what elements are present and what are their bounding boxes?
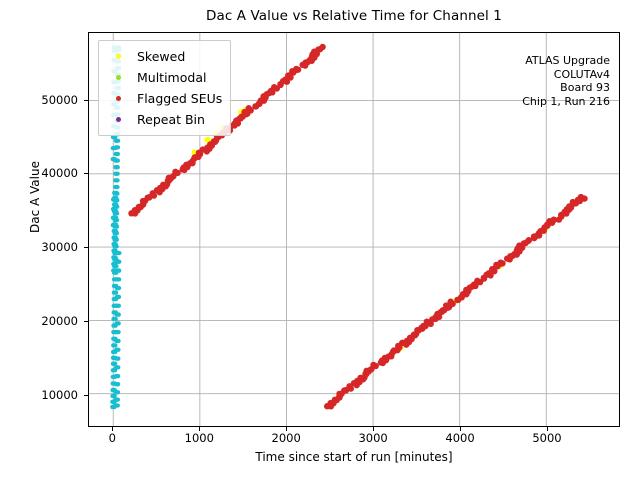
legend-marker-icon (105, 75, 131, 80)
data-point-ramp (116, 382, 120, 386)
data-point-seu (499, 260, 505, 266)
data-point-ramp (114, 242, 118, 246)
data-point-ramp (117, 321, 121, 325)
legend-dot-icon (116, 75, 121, 80)
y-tick-label: 40000 (18, 166, 78, 180)
annotation-line-1: ATLAS Upgrade (522, 54, 610, 68)
data-point-ramp (116, 374, 120, 378)
legend-label: Repeat Bin (131, 112, 205, 127)
data-point-ramp (115, 178, 119, 182)
data-point-ramp (117, 260, 121, 264)
y-tick-mark (84, 247, 88, 248)
legend-dot-icon (116, 54, 121, 59)
legend-label: Skewed (131, 49, 185, 64)
data-point-ramp (116, 330, 120, 334)
data-point-seu (295, 66, 301, 72)
legend-label: Multimodal (131, 70, 206, 85)
x-tick-label: 0 (109, 431, 116, 445)
data-point-ramp (117, 312, 121, 316)
annotation-line-3: Board 93 (522, 81, 610, 95)
y-tick-label: 50000 (18, 93, 78, 107)
data-point-ramp (117, 286, 121, 290)
legend-label: Flagged SEUs (131, 91, 222, 106)
annotation-line-4: Chip 1, Run 216 (522, 95, 610, 109)
data-point-ramp (116, 139, 120, 143)
figure-canvas: Dac A Value vs Relative Time for Channel… (0, 0, 640, 480)
data-point-ramp (116, 403, 120, 407)
legend-item[interactable]: Flagged SEUs (105, 88, 222, 109)
annotation-block: ATLAS Upgrade COLUTAv4 Board 93 Chip 1, … (522, 54, 610, 108)
data-point-seu (581, 195, 587, 201)
data-point-ramp (113, 207, 117, 211)
annotation-line-2: COLUTAv4 (522, 68, 610, 82)
data-point-ramp (116, 356, 120, 360)
x-tick-label: 3000 (358, 431, 387, 445)
x-tick-label: 1000 (185, 431, 214, 445)
y-tick-label: 30000 (18, 240, 78, 254)
data-point-ramp (113, 216, 117, 220)
legend-dot-icon (116, 96, 121, 101)
legend-dot-icon (116, 117, 121, 122)
data-point-ramp (116, 365, 120, 369)
y-tick-mark (84, 100, 88, 101)
data-point-ramp (114, 290, 118, 294)
data-point-ramp (116, 390, 120, 394)
x-tick-label: 5000 (532, 431, 561, 445)
data-point-ramp (114, 235, 118, 239)
data-point-seu (348, 385, 354, 391)
data-point-ramp (113, 343, 117, 347)
y-tick-mark (84, 395, 88, 396)
data-point-ramp (113, 157, 117, 161)
data-point-ramp (113, 362, 117, 366)
data-point-ramp (117, 277, 121, 281)
y-tick-label: 10000 (18, 388, 78, 402)
legend-marker-icon (105, 96, 131, 101)
x-tick-label: 4000 (445, 431, 474, 445)
data-point-ramp (116, 152, 120, 156)
data-point-ramp (113, 223, 117, 227)
legend-marker-icon (105, 54, 131, 59)
y-axis-label: Dac A Value (28, 0, 42, 397)
data-point-ramp (117, 251, 121, 255)
legend-item[interactable]: Skewed (105, 46, 222, 67)
page-title: Dac A Value vs Relative Time for Channel… (88, 8, 620, 24)
data-point-ramp (113, 394, 117, 398)
data-point-ramp (113, 146, 117, 150)
data-point-ramp (117, 268, 121, 272)
legend[interactable]: SkewedMultimodalFlagged SEUsRepeat Bin (98, 40, 231, 136)
data-point-ramp (116, 348, 120, 352)
x-axis-label: Time since start of run [minutes] (88, 450, 620, 464)
legend-item[interactable]: Multimodal (105, 67, 222, 88)
data-point-ramp (113, 197, 117, 201)
data-point-ramp (116, 397, 120, 401)
legend-item[interactable]: Repeat Bin (105, 109, 222, 130)
data-point-ramp (114, 317, 118, 321)
data-point-ramp (113, 255, 117, 259)
data-point-ramp (114, 191, 118, 195)
data-point-seu (151, 192, 157, 198)
x-tick-label: 2000 (272, 431, 301, 445)
data-point-ramp (117, 304, 121, 308)
data-point-ramp (115, 185, 119, 189)
data-point-ramp (116, 165, 120, 169)
data-point-ramp (117, 295, 121, 299)
data-point-ramp (114, 229, 118, 233)
legend-marker-icon (105, 117, 131, 122)
y-tick-label: 20000 (18, 314, 78, 328)
data-point-ramp (116, 339, 120, 343)
y-tick-mark (84, 321, 88, 322)
data-point-ramp (114, 202, 118, 206)
y-tick-mark (84, 173, 88, 174)
data-point-seu (319, 44, 325, 50)
data-point-ramp (115, 172, 119, 176)
